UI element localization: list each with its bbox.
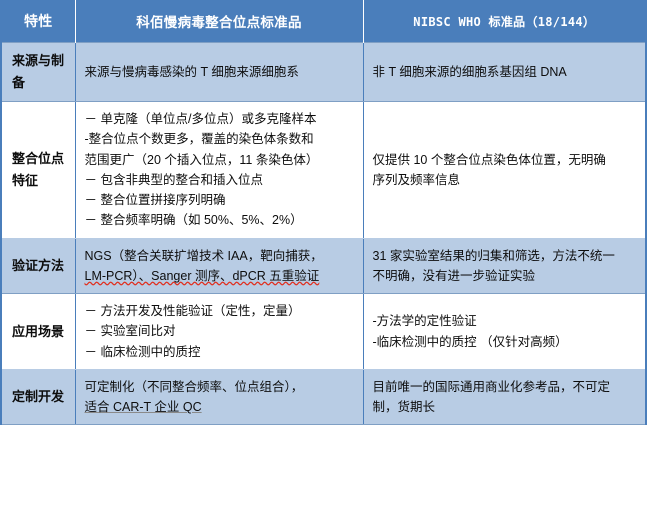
document-canvas: 特性 科佰慢病毒整合位点标准品 NIBSC WHO 标准品（18/144） 来源…	[0, 0, 651, 518]
table-header: 特性 科佰慢病毒整合位点标准品 NIBSC WHO 标准品（18/144）	[1, 0, 646, 43]
cell-line: 范围更广（20 个插入位点，11 条染色体）	[85, 150, 354, 170]
cell-line: 可定制化（不同整合频率、位点组合），	[85, 377, 354, 397]
cell-line: 31 家实验室结果的归集和筛选，方法不统一	[373, 246, 637, 266]
row-feature-label: 整合位点特征	[1, 102, 75, 239]
column-header-feature: 特性	[1, 0, 75, 43]
cell-line: 序列及频率信息	[373, 170, 637, 190]
cell-line: － 单克隆（单位点/多位点）或多克隆样本	[85, 109, 354, 129]
table-row: 验证方法 NGS（整合关联扩增技术 IAA，靶向捕获， LM-PCR）、Sang…	[1, 238, 646, 294]
row-cell-nibsc: 31 家实验室结果的归集和筛选，方法不统一 不明确，没有进一步验证实验	[363, 238, 646, 294]
row-cell-nibsc: -方法学的定性验证 -临床检测中的质控 （仅针对高频）	[363, 294, 646, 370]
cell-line: 仅提供 10 个整合位点染色体位置，无明确	[373, 150, 637, 170]
row-feature-label: 定制开发	[1, 369, 75, 425]
row-cell-nibsc: 非 T 细胞来源的细胞系基因组 DNA	[363, 43, 646, 102]
comparison-table: 特性 科佰慢病毒整合位点标准品 NIBSC WHO 标准品（18/144） 来源…	[0, 0, 647, 425]
table-row: 定制开发 可定制化（不同整合频率、位点组合）， 适合 CAR-T 企业 QC 目…	[1, 369, 646, 425]
row-feature-label: 验证方法	[1, 238, 75, 294]
row-feature-label: 来源与制备	[1, 43, 75, 102]
table-body: 来源与制备 来源与慢病毒感染的 T 细胞来源细胞系 非 T 细胞来源的细胞系基因…	[1, 43, 646, 425]
cell-line: 不明确，没有进一步验证实验	[373, 266, 637, 286]
cell-line: 适合 CAR-T 企业 QC	[85, 397, 354, 417]
row-cell-kebai: NGS（整合关联扩增技术 IAA，靶向捕获， LM-PCR）、Sanger 测序…	[75, 238, 363, 294]
table-row: 来源与制备 来源与慢病毒感染的 T 细胞来源细胞系 非 T 细胞来源的细胞系基因…	[1, 43, 646, 102]
row-cell-kebai: － 单克隆（单位点/多位点）或多克隆样本 -整合位点个数更多，覆盖的染色体条数和…	[75, 102, 363, 239]
cell-line: 目前唯一的国际通用商业化参考品，不可定	[373, 377, 637, 397]
row-feature-label: 应用场景	[1, 294, 75, 370]
cell-line: － 实验室间比对	[85, 321, 354, 341]
cell-line: － 整合位置拼接序列明确	[85, 190, 354, 210]
cell-line: 来源与慢病毒感染的 T 细胞来源细胞系	[85, 62, 354, 82]
row-cell-kebai: 来源与慢病毒感染的 T 细胞来源细胞系	[75, 43, 363, 102]
cell-line: 制，货期长	[373, 397, 637, 417]
cell-line: － 临床检测中的质控	[85, 342, 354, 362]
row-cell-nibsc: 仅提供 10 个整合位点染色体位置，无明确 序列及频率信息	[363, 102, 646, 239]
row-cell-kebai: 可定制化（不同整合频率、位点组合）， 适合 CAR-T 企业 QC	[75, 369, 363, 425]
cell-line: -整合位点个数更多，覆盖的染色体条数和	[85, 129, 354, 149]
cell-line: 非 T 细胞来源的细胞系基因组 DNA	[373, 62, 637, 82]
column-header-nibsc-who-standard: NIBSC WHO 标准品（18/144）	[363, 0, 646, 43]
cell-line-spellchecked: LM-PCR）、Sanger 测序、dPCR 五重验证	[85, 266, 354, 286]
table-row: 整合位点特征 － 单克隆（单位点/多位点）或多克隆样本 -整合位点个数更多，覆盖…	[1, 102, 646, 239]
column-header-kebai-standard: 科佰慢病毒整合位点标准品	[75, 0, 363, 43]
cell-line: -方法学的定性验证	[373, 311, 637, 331]
table-row: 应用场景 － 方法开发及性能验证（定性，定量） － 实验室间比对 － 临床检测中…	[1, 294, 646, 370]
row-cell-nibsc: 目前唯一的国际通用商业化参考品，不可定 制，货期长	[363, 369, 646, 425]
cell-line: － 包含非典型的整合和插入位点	[85, 170, 354, 190]
cell-line: － 方法开发及性能验证（定性，定量）	[85, 301, 354, 321]
cell-line: -临床检测中的质控 （仅针对高频）	[373, 332, 637, 352]
header-row: 特性 科佰慢病毒整合位点标准品 NIBSC WHO 标准品（18/144）	[1, 0, 646, 43]
row-cell-kebai: － 方法开发及性能验证（定性，定量） － 实验室间比对 － 临床检测中的质控	[75, 294, 363, 370]
cell-line: NGS（整合关联扩增技术 IAA，靶向捕获，	[85, 246, 354, 266]
cell-line: － 整合频率明确（如 50%、5%、2%）	[85, 210, 354, 230]
